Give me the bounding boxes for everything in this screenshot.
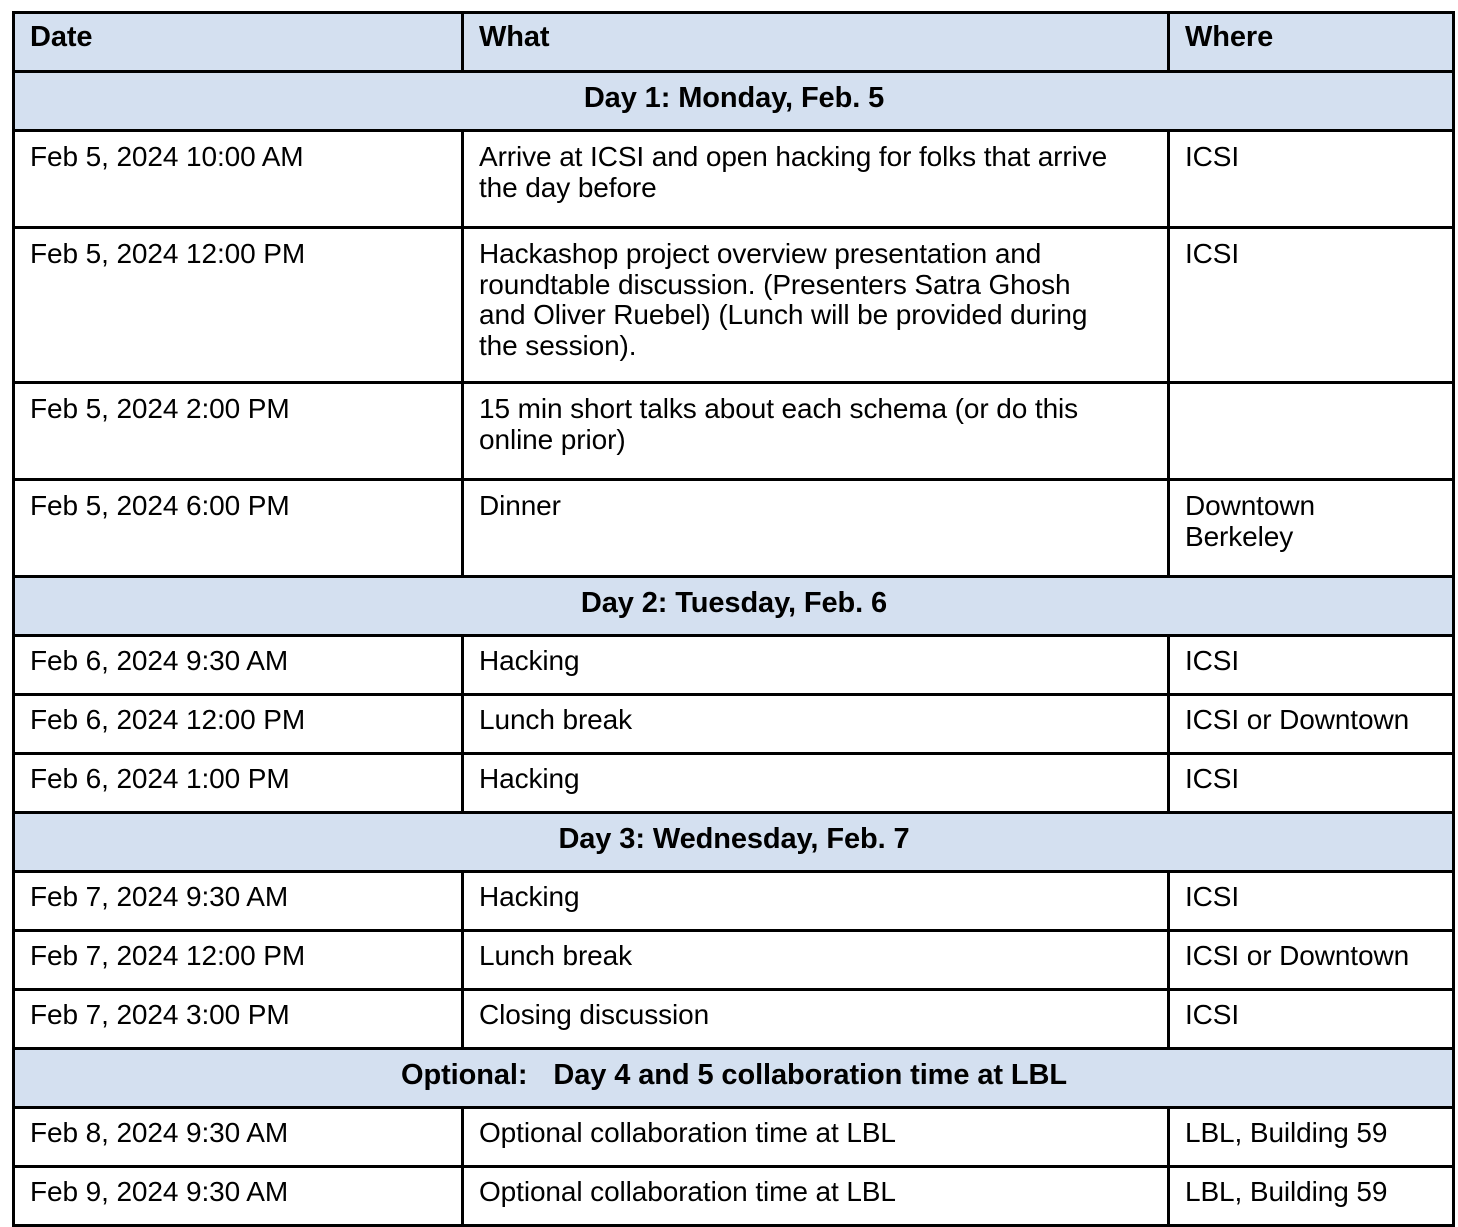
cell-date: Feb 7, 2024 3:00 PM <box>14 990 463 1049</box>
cell-what-text: Hacking <box>479 764 1153 795</box>
table-header-row: Date What Where <box>14 13 1454 72</box>
day-separator-label: Day 3: Wednesday, Feb. 7 <box>14 813 1454 872</box>
cell-date: Feb 5, 2024 12:00 PM <box>14 228 463 383</box>
cell-what: Optional collaboration time at LBL <box>463 1167 1169 1226</box>
cell-date: Feb 6, 2024 9:30 AM <box>14 636 463 695</box>
cell-where: Downtown Berkeley <box>1169 480 1454 577</box>
table-row: Feb 7, 2024 9:30 AMHackingICSI <box>14 872 1454 931</box>
cell-where-text: ICSI <box>1185 239 1438 270</box>
cell-what: Optional collaboration time at LBL <box>463 1108 1169 1167</box>
table-row: Feb 5, 2024 2:00 PM15 min short talks ab… <box>14 383 1454 480</box>
cell-where: LBL, Building 59 <box>1169 1108 1454 1167</box>
schedule-table: Date What Where Day 1: Monday, Feb. 5Feb… <box>12 11 1455 1227</box>
cell-where-text: ICSI or Downtown <box>1185 705 1438 736</box>
day-separator-label: Optional:Day 4 and 5 collaboration time … <box>14 1049 1454 1108</box>
cell-where-text: LBL, Building 59 <box>1185 1177 1438 1208</box>
cell-what-text: Optional collaboration time at LBL <box>479 1177 1153 1208</box>
cell-where-text: ICSI <box>1185 764 1438 795</box>
cell-date-text: Feb 5, 2024 2:00 PM <box>30 394 447 425</box>
cell-what: Lunch break <box>463 931 1169 990</box>
cell-what-text: Lunch break <box>479 705 1153 736</box>
table-row: Feb 9, 2024 9:30 AMOptional collaboratio… <box>14 1167 1454 1226</box>
cell-where <box>1169 383 1454 480</box>
cell-what: Closing discussion <box>463 990 1169 1049</box>
day-separator-title: Day 2: Tuesday, Feb. 6 <box>581 587 887 619</box>
cell-date-text: Feb 7, 2024 9:30 AM <box>30 882 447 913</box>
cell-where: ICSI <box>1169 754 1454 813</box>
day-separator-text: Day 1: Monday, Feb. 5 <box>584 82 884 114</box>
cell-date-text: Feb 5, 2024 12:00 PM <box>30 239 447 270</box>
day-separator-row: Day 1: Monday, Feb. 5 <box>14 72 1454 131</box>
cell-date: Feb 7, 2024 9:30 AM <box>14 872 463 931</box>
cell-date: Feb 6, 2024 12:00 PM <box>14 695 463 754</box>
day-separator-label: Day 2: Tuesday, Feb. 6 <box>14 577 1454 636</box>
day-separator-label: Day 1: Monday, Feb. 5 <box>14 72 1454 131</box>
cell-where: ICSI <box>1169 872 1454 931</box>
day-separator-title: Day 4 and 5 collaboration time at LBL <box>553 1059 1067 1091</box>
cell-what-text: 15 min short talks about each schema (or… <box>479 394 1153 455</box>
cell-date-text: Feb 5, 2024 10:00 AM <box>30 142 447 173</box>
cell-date-text: Feb 7, 2024 3:00 PM <box>30 1000 447 1031</box>
day-separator-row: Optional:Day 4 and 5 collaboration time … <box>14 1049 1454 1108</box>
cell-where-text: Downtown Berkeley <box>1185 491 1438 552</box>
cell-where-text: ICSI or Downtown <box>1185 941 1438 972</box>
cell-what-text: Hackashop project overview presentation … <box>479 239 1153 361</box>
table-row: Feb 7, 2024 12:00 PMLunch breakICSI or D… <box>14 931 1454 990</box>
table-row: Feb 6, 2024 1:00 PMHackingICSI <box>14 754 1454 813</box>
cell-what: 15 min short talks about each schema (or… <box>463 383 1169 480</box>
cell-date-text: Feb 9, 2024 9:30 AM <box>30 1177 447 1208</box>
cell-where-text: ICSI <box>1185 882 1438 913</box>
table-row: Feb 7, 2024 3:00 PMClosing discussionICS… <box>14 990 1454 1049</box>
cell-where: LBL, Building 59 <box>1169 1167 1454 1226</box>
cell-what-text: Lunch break <box>479 941 1153 972</box>
cell-what-text: Optional collaboration time at LBL <box>479 1118 1153 1149</box>
cell-where: ICSI or Downtown <box>1169 695 1454 754</box>
cell-date-text: Feb 5, 2024 6:00 PM <box>30 491 447 522</box>
table-row: Feb 5, 2024 12:00 PMHackashop project ov… <box>14 228 1454 383</box>
column-header-date: Date <box>14 13 463 72</box>
cell-what: Hacking <box>463 636 1169 695</box>
table-row: Feb 8, 2024 9:30 AMOptional collaboratio… <box>14 1108 1454 1167</box>
table-row: Feb 6, 2024 9:30 AMHackingICSI <box>14 636 1454 695</box>
table-row: Feb 5, 2024 6:00 PMDinnerDowntown Berkel… <box>14 480 1454 577</box>
day-separator-text: Day 3: Wednesday, Feb. 7 <box>558 823 909 855</box>
day-separator-text: Optional:Day 4 and 5 collaboration time … <box>401 1059 1067 1091</box>
table-row: Feb 5, 2024 10:00 AMArrive at ICSI and o… <box>14 131 1454 228</box>
cell-date-text: Feb 8, 2024 9:30 AM <box>30 1118 447 1149</box>
cell-what-text: Dinner <box>479 491 1153 522</box>
cell-where: ICSI <box>1169 131 1454 228</box>
cell-date-text: Feb 6, 2024 9:30 AM <box>30 646 447 677</box>
cell-where: ICSI or Downtown <box>1169 931 1454 990</box>
cell-date-text: Feb 6, 2024 1:00 PM <box>30 764 447 795</box>
cell-date: Feb 6, 2024 1:00 PM <box>14 754 463 813</box>
cell-where: ICSI <box>1169 636 1454 695</box>
cell-date: Feb 8, 2024 9:30 AM <box>14 1108 463 1167</box>
cell-what-text: Arrive at ICSI and open hacking for folk… <box>479 142 1153 203</box>
cell-date-text: Feb 6, 2024 12:00 PM <box>30 705 447 736</box>
day-separator-row: Day 2: Tuesday, Feb. 6 <box>14 577 1454 636</box>
cell-date: Feb 5, 2024 6:00 PM <box>14 480 463 577</box>
table-row: Feb 6, 2024 12:00 PMLunch breakICSI or D… <box>14 695 1454 754</box>
table-head: Date What Where <box>14 13 1454 72</box>
cell-what: Dinner <box>463 480 1169 577</box>
cell-date: Feb 9, 2024 9:30 AM <box>14 1167 463 1226</box>
day-separator-lead: Optional: <box>401 1059 527 1091</box>
cell-where-text: ICSI <box>1185 1000 1438 1031</box>
day-separator-title: Day 1: Monday, Feb. 5 <box>584 82 884 114</box>
day-separator-row: Day 3: Wednesday, Feb. 7 <box>14 813 1454 872</box>
day-separator-title: Day 3: Wednesday, Feb. 7 <box>558 823 909 855</box>
cell-where: ICSI <box>1169 228 1454 383</box>
cell-what: Arrive at ICSI and open hacking for folk… <box>463 131 1169 228</box>
cell-what-text: Hacking <box>479 646 1153 677</box>
cell-what: Hacking <box>463 872 1169 931</box>
cell-date-text: Feb 7, 2024 12:00 PM <box>30 941 447 972</box>
cell-what-text: Closing discussion <box>479 1000 1153 1031</box>
cell-where-text: ICSI <box>1185 142 1438 173</box>
column-header-where: Where <box>1169 13 1454 72</box>
cell-what-text: Hacking <box>479 882 1153 913</box>
cell-what: Hackashop project overview presentation … <box>463 228 1169 383</box>
cell-where-text: ICSI <box>1185 646 1438 677</box>
cell-date: Feb 5, 2024 2:00 PM <box>14 383 463 480</box>
cell-date: Feb 7, 2024 12:00 PM <box>14 931 463 990</box>
day-separator-text: Day 2: Tuesday, Feb. 6 <box>581 587 887 619</box>
cell-where: ICSI <box>1169 990 1454 1049</box>
cell-what: Hacking <box>463 754 1169 813</box>
schedule-sheet: Date What Where Day 1: Monday, Feb. 5Feb… <box>0 0 1458 1190</box>
column-header-what: What <box>463 13 1169 72</box>
cell-where-text: LBL, Building 59 <box>1185 1118 1438 1149</box>
cell-date: Feb 5, 2024 10:00 AM <box>14 131 463 228</box>
cell-what: Lunch break <box>463 695 1169 754</box>
table-body: Day 1: Monday, Feb. 5Feb 5, 2024 10:00 A… <box>14 72 1454 1226</box>
